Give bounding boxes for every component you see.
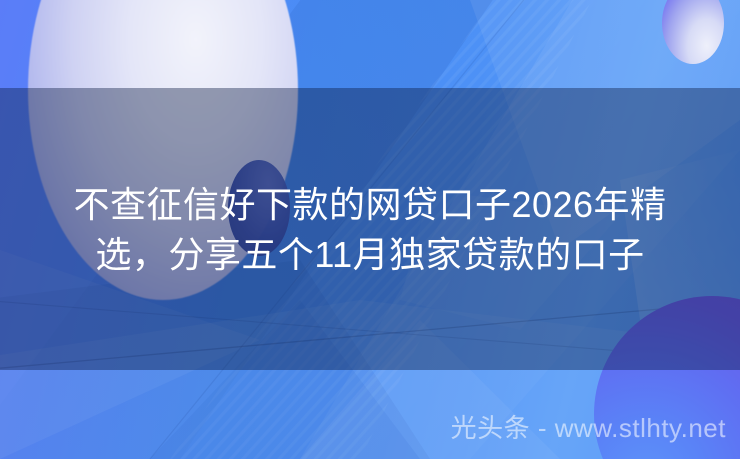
title-line-1: 不查征信好下款的网贷口子2026年精 — [0, 180, 740, 230]
banner-image: 不查征信好下款的网贷口子2026年精 选，分享五个11月独家贷款的口子 光头条 … — [0, 0, 740, 459]
page-title: 不查征信好下款的网贷口子2026年精 选，分享五个11月独家贷款的口子 — [0, 180, 740, 280]
site-watermark: 光头条 - www.stlhty.net — [451, 408, 726, 445]
title-line-2: 选，分享五个11月独家贷款的口子 — [0, 230, 740, 280]
